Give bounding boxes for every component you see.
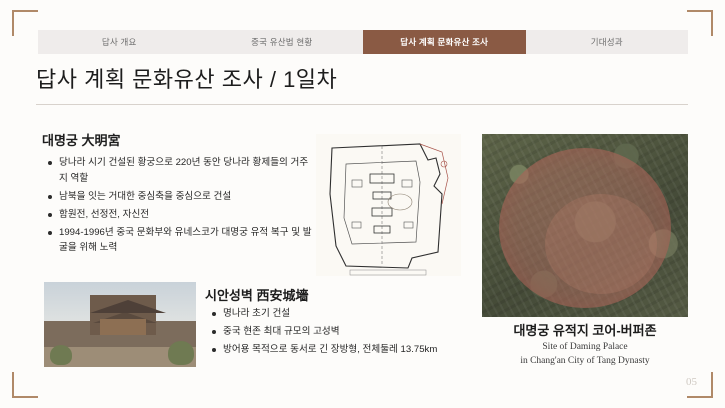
- core-zone-overlay: [545, 194, 657, 294]
- caption-main: 대명궁 유적지 코어-버퍼존: [482, 320, 688, 339]
- bullet-list-daming: 당나라 시기 건설된 황궁으로 220년 동안 당나라 황제들의 거주지 역할 …: [46, 155, 316, 258]
- xian-city-wall-photo: [44, 282, 196, 367]
- daming-palace-plan-drawing: [316, 134, 461, 276]
- tab-survey-plan[interactable]: 답사 계획 문화유산 조사: [363, 30, 526, 54]
- title-divider: [36, 104, 688, 105]
- buffer-zone-overlay: [499, 148, 671, 308]
- daming-palace-satellite-image: [482, 134, 688, 317]
- heading-daming-palace: 대명궁 大明宮: [42, 130, 121, 149]
- tab-china-heritage-law[interactable]: 중국 유산법 현황: [201, 30, 364, 54]
- list-item: 함원전, 선정전, 자신전: [46, 207, 316, 223]
- caption-sub: Site of Daming Palace in Chang'an City o…: [472, 340, 698, 368]
- caption-sub-line1: Site of Daming Palace: [472, 340, 698, 354]
- caption-sub-line2: in Chang'an City of Tang Dynasty: [472, 354, 698, 368]
- section-tab-bar: 답사 개요 중국 유산법 현황 답사 계획 문화유산 조사 기대성과: [38, 30, 688, 54]
- page-number: 05: [686, 376, 697, 388]
- list-item: 1994-1996년 중국 문화부와 유네스코가 대명궁 유적 복구 및 발굴을…: [46, 225, 316, 256]
- list-item: 당나라 시기 건설된 황궁으로 220년 동안 당나라 황제들의 거주지 역할: [46, 155, 316, 186]
- list-item: 남북을 잇는 거대한 중심축을 중심으로 건설: [46, 189, 316, 205]
- tab-overview[interactable]: 답사 개요: [38, 30, 201, 54]
- bullet-list-xian: 명나라 초기 건설 중국 현존 최대 규모의 고성벽 방어용 목적으로 동서로 …: [210, 306, 470, 360]
- frame-corner-top-left: [12, 10, 38, 36]
- list-item: 명나라 초기 건설: [210, 306, 470, 322]
- list-item: 방어용 목적으로 동서로 긴 장방형, 전체둘레 13.75km: [210, 342, 470, 358]
- tab-expected-results[interactable]: 기대성과: [526, 30, 689, 54]
- page-title: 답사 계획 문화유산 조사 / 1일차: [36, 62, 337, 94]
- frame-corner-bottom-left: [12, 372, 38, 398]
- heading-xian-city-wall: 시안성벽 西安城墻: [205, 285, 308, 304]
- frame-corner-top-right: [687, 10, 713, 36]
- list-item: 중국 현존 최대 규모의 고성벽: [210, 324, 470, 340]
